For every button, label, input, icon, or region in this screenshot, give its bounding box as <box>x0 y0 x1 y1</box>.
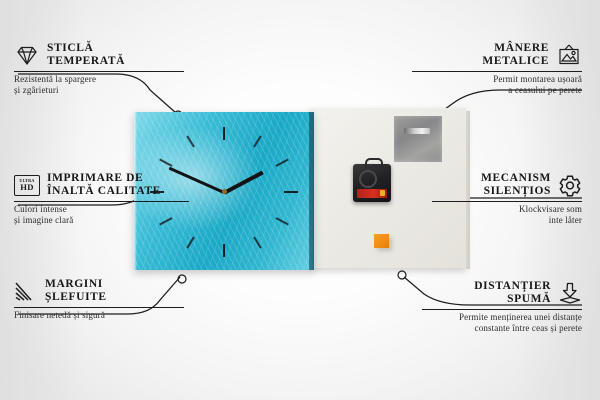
quartz-movement <box>353 164 391 202</box>
tick-mark <box>186 135 195 147</box>
tick-mark <box>275 217 288 225</box>
callout-subtitle-line1: Finisare netedă și sigură <box>14 310 184 321</box>
callout-title-line2: SILENȚIOS <box>481 185 551 198</box>
callout-title-line2: SPUMĂ <box>474 293 551 306</box>
callout-rule <box>432 201 582 202</box>
ultra-hd-icon-main: HD <box>20 183 34 192</box>
callout-subtitle-line2: a ceasului pe perete <box>412 85 582 96</box>
foam-spacer <box>374 234 389 248</box>
callout-rule <box>412 71 582 72</box>
arrow-down-pad-icon <box>558 282 582 305</box>
diamond-icon <box>14 45 40 66</box>
movement-dial <box>359 170 377 188</box>
callout-rule <box>14 201 189 202</box>
callout-subtitle-line1: Rezistentă la spargere <box>14 74 184 85</box>
hour-hand <box>223 171 264 195</box>
callout-rule <box>422 309 582 310</box>
callout-subtitle-line1: Permit montarea ușoară <box>412 74 582 85</box>
callout-silent-mechanism: MECANISM SILENȚIOS Klockvisare som inte … <box>432 172 582 226</box>
callout-rule <box>14 307 184 308</box>
callout-tempered-glass: STICLĂ TEMPERATĂ Rezistentă la spargere … <box>14 42 184 96</box>
tick-mark <box>186 237 195 249</box>
picture-frame-icon <box>556 44 582 66</box>
callout-metal-handles: MÂNERE METALICE Permit montarea ușoară a… <box>412 42 582 96</box>
callout-polished-edges: MARGINI ȘLEFUITE Finisare netedă și sigu… <box>14 278 184 321</box>
ultra-hd-icon: ultra HD <box>14 175 40 196</box>
tick-mark <box>284 191 298 193</box>
callout-title-line1: IMPRIMARE DE <box>47 172 161 185</box>
callout-title-line2: TEMPERATĂ <box>47 55 125 68</box>
callout-foam-spacer: DISTANȚIER SPUMĂ Permite menținerea unei… <box>422 280 582 334</box>
callout-title-line1: MECANISM <box>481 172 551 185</box>
hanger-loop <box>365 158 383 168</box>
tick-mark <box>253 135 262 147</box>
callout-subtitle-line1: Permite menținerea unei distanțe <box>422 312 582 323</box>
callout-title-line1: DISTANȚIER <box>474 280 551 293</box>
callout-subtitle-line2: și zgârieturi <box>14 85 184 96</box>
tick-mark <box>275 159 288 167</box>
callout-subtitle-line1: Culori intense <box>14 204 189 215</box>
callout-subtitle-line2: inte låter <box>432 215 582 226</box>
tick-mark <box>223 127 225 140</box>
callout-subtitle-line1: Klockvisare som <box>432 204 582 215</box>
battery-terminal <box>380 190 385 196</box>
hanger-slot <box>404 128 430 134</box>
callout-rule <box>14 71 184 72</box>
infographic-canvas: STICLĂ TEMPERATĂ Rezistentă la spargere … <box>0 0 600 400</box>
callout-high-quality-print: ultra HD IMPRIMARE DE ÎNALTĂ CALITATE Cu… <box>14 172 189 226</box>
tick-mark <box>159 159 172 167</box>
tick-mark <box>253 237 262 249</box>
callout-subtitle-line2: și imagine clară <box>14 215 189 226</box>
battery <box>357 189 387 198</box>
callout-title-line1: MÂNERE <box>482 42 549 55</box>
hatch-lines-icon <box>14 281 38 302</box>
callout-title-line1: MARGINI <box>45 278 107 291</box>
callout-title-line2: METALICE <box>482 55 549 68</box>
callout-title-line1: STICLĂ <box>47 42 125 55</box>
metal-hanger-plate <box>394 116 442 162</box>
callout-subtitle-line2: constante între ceas și perete <box>422 323 582 334</box>
callout-title-line2: ȘLEFUITE <box>45 291 107 304</box>
tick-mark <box>223 244 225 257</box>
gear-icon <box>558 174 582 197</box>
callout-title-line2: ÎNALTĂ CALITATE <box>47 185 161 198</box>
clock-hub <box>222 189 227 194</box>
